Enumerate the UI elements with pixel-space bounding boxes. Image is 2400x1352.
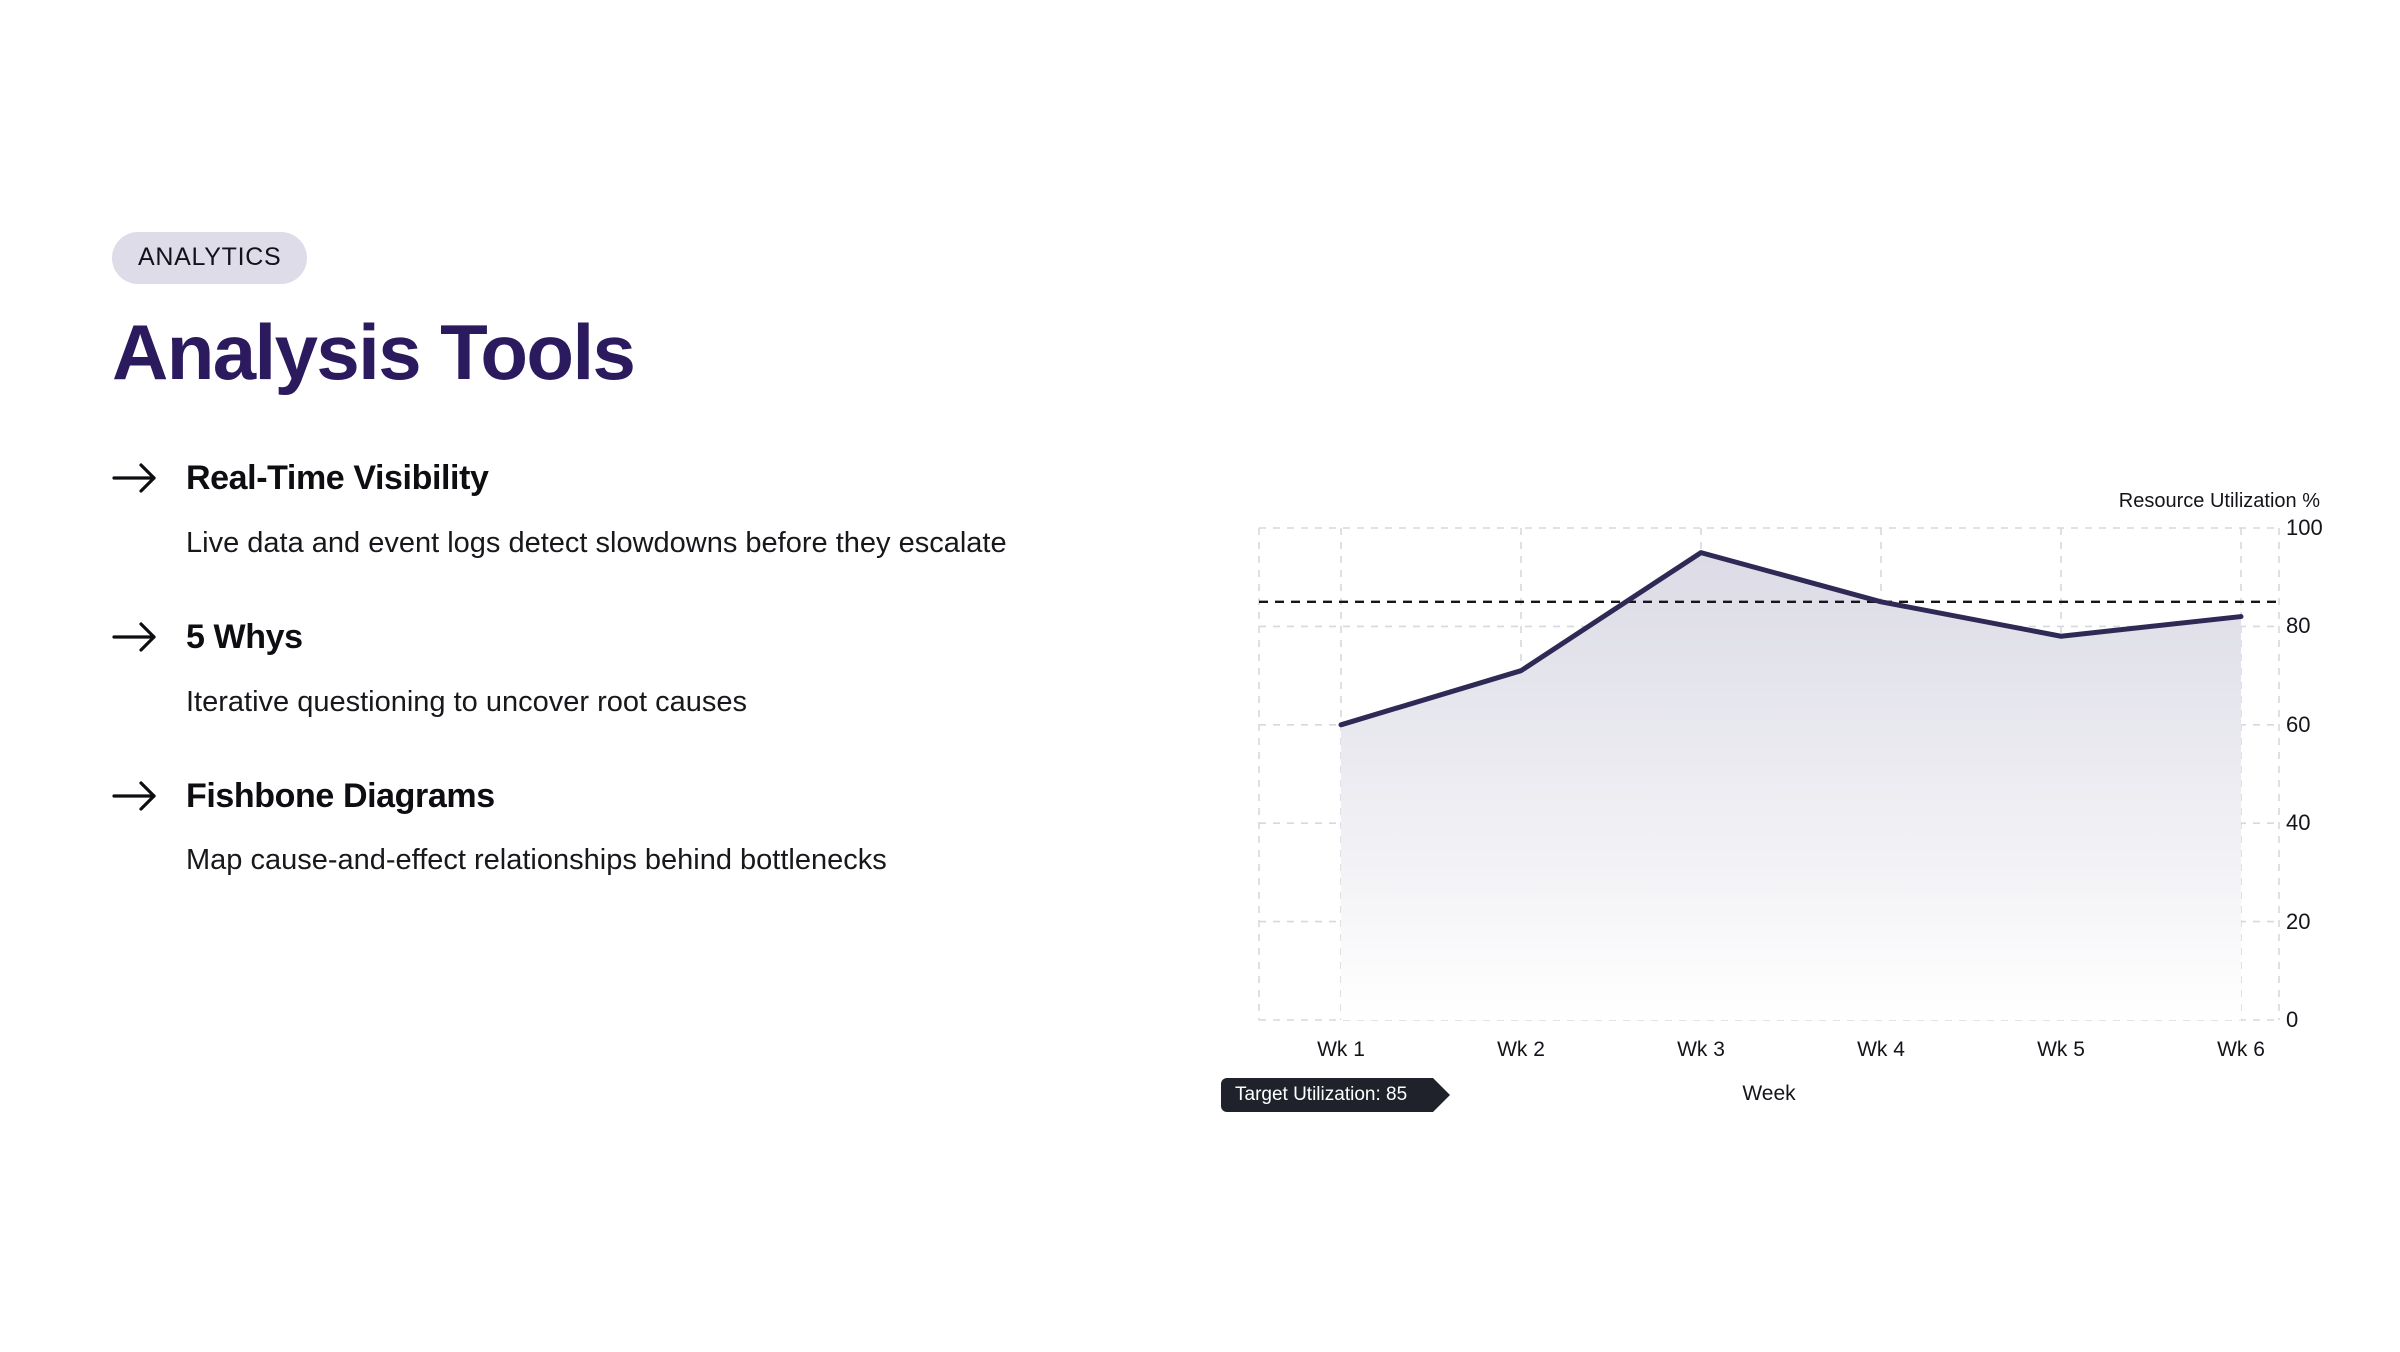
feature-header: Fishbone Diagrams	[112, 776, 1192, 817]
chart-y-tick: 0	[2286, 1007, 2298, 1033]
chart-plot-area	[1259, 528, 2279, 1020]
chart-x-tick: Wk 4	[1857, 1038, 1905, 1062]
chart-x-tick: Wk 2	[1497, 1038, 1545, 1062]
chart-x-axis-labels: Wk 1Wk 2Wk 3Wk 4Wk 5Wk 6	[1259, 1038, 2279, 1068]
feature-title: Fishbone Diagrams	[186, 776, 495, 817]
chart-area-fill	[1341, 553, 2241, 1020]
arrow-right-icon	[112, 779, 158, 813]
chart-y-tick: 60	[2286, 712, 2310, 738]
feature-title: Real-Time Visibility	[186, 458, 489, 499]
list-item: Fishbone Diagrams Map cause-and-effect r…	[112, 776, 1192, 883]
feature-header: 5 Whys	[112, 617, 1192, 658]
chart-y-axis-labels: 020406080100	[2286, 528, 2356, 1020]
page-title: Analysis Tools	[112, 312, 1192, 394]
feature-header: Real-Time Visibility	[112, 458, 1192, 499]
arrow-right-icon	[112, 620, 158, 654]
chart-x-tick: Wk 3	[1677, 1038, 1725, 1062]
feature-title: 5 Whys	[186, 617, 303, 658]
chart-x-tick: Wk 5	[2037, 1038, 2085, 1062]
slide: ANALYTICS Analysis Tools Real-Time Visib…	[0, 0, 2400, 1352]
chart-x-tick: Wk 6	[2217, 1038, 2265, 1062]
content-column: ANALYTICS Analysis Tools Real-Time Visib…	[112, 232, 1192, 883]
feature-description: Iterative questioning to uncover root ca…	[186, 680, 1026, 724]
chart-y-tick: 40	[2286, 810, 2310, 836]
chart-y-axis-title: Resource Utilization %	[2119, 490, 2320, 513]
list-item: 5 Whys Iterative questioning to uncover …	[112, 617, 1192, 724]
list-item: Real-Time Visibility Live data and event…	[112, 458, 1192, 565]
chart-y-tick: 80	[2286, 613, 2310, 639]
feature-description: Live data and event logs detect slowdown…	[186, 521, 1026, 565]
arrow-right-icon	[112, 461, 158, 495]
chart-y-tick: 100	[2286, 515, 2323, 541]
chart-svg	[1259, 528, 2279, 1020]
chart-y-tick: 20	[2286, 909, 2310, 935]
feature-description: Map cause-and-effect relationships behin…	[186, 838, 1026, 882]
feature-list: Real-Time Visibility Live data and event…	[112, 458, 1192, 883]
eyebrow-badge: ANALYTICS	[112, 232, 307, 284]
chart-target-annotation-badge: Target Utilization: 85	[1221, 1078, 1433, 1112]
chart-container: Resource Utilization % 020406080100 Wk 1…	[1220, 490, 2350, 1120]
chart-x-tick: Wk 1	[1317, 1038, 1365, 1062]
